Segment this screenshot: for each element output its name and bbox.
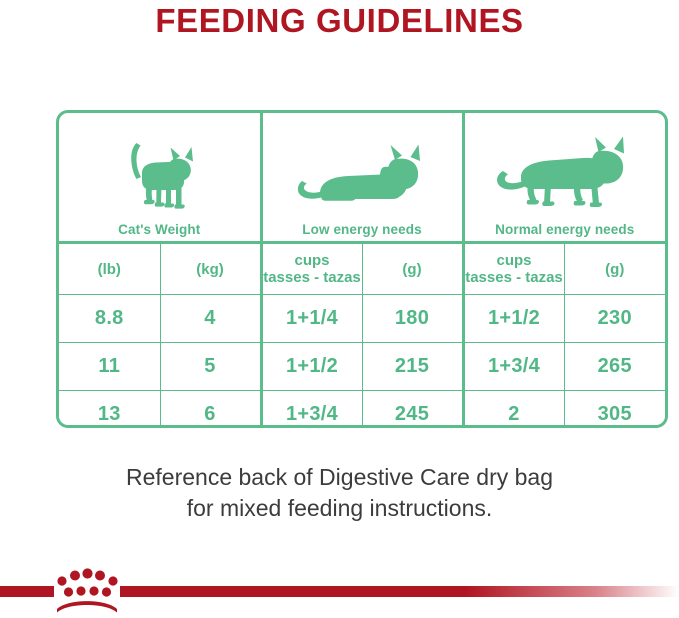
cell-low-grams: 180 xyxy=(362,295,463,343)
cell-normal-grams: 305 xyxy=(564,391,665,429)
header-label-low-energy: Low energy needs xyxy=(302,222,421,237)
unit-header-low-grams: (g) xyxy=(362,243,463,295)
cell-normal-cups: 2 xyxy=(463,391,564,429)
table-row: 11 5 1+1/2 215 1+3/4 265 xyxy=(59,343,665,391)
header-cell-low-energy: Low energy needs xyxy=(261,113,463,243)
brand-bar-left-segment xyxy=(0,586,54,597)
cell-normal-grams: 265 xyxy=(564,343,665,391)
cell-normal-cups: 1+3/4 xyxy=(463,343,564,391)
unit-header-normal-grams: (g) xyxy=(564,243,665,295)
unit-header-low-cups-line2: tasses - tazas xyxy=(263,269,362,286)
cell-weight-lb: 13 xyxy=(59,391,160,429)
cell-weight-lb: 8.8 xyxy=(59,295,160,343)
lying-cat-icon xyxy=(296,137,428,216)
header-cell-normal-energy: Normal energy needs xyxy=(463,113,665,243)
cell-weight-lb: 11 xyxy=(59,343,160,391)
footer-note: Reference back of Digestive Care dry bag… xyxy=(0,462,679,524)
brand-bar-right-segment xyxy=(120,586,679,597)
royal-canin-crown-logo xyxy=(48,567,126,613)
standing-cat-icon xyxy=(116,137,202,216)
unit-header-normal-cups: cups tasses - tazas xyxy=(463,243,564,295)
unit-header-normal-cups-line1: cups xyxy=(465,252,564,269)
cell-weight-kg: 5 xyxy=(160,343,261,391)
cell-weight-kg: 6 xyxy=(160,391,261,429)
cell-low-cups: 1+3/4 xyxy=(261,391,362,429)
cell-low-cups: 1+1/2 xyxy=(261,343,362,391)
table-row: 13 6 1+3/4 245 2 305 xyxy=(59,391,665,429)
cell-low-grams: 215 xyxy=(362,343,463,391)
table-header-unit-row: (lb) (kg) cups tasses - tazas (g) cups t… xyxy=(59,243,665,295)
cell-low-cups: 1+1/4 xyxy=(261,295,362,343)
cell-low-grams: 245 xyxy=(362,391,463,429)
cell-normal-cups: 1+1/2 xyxy=(463,295,564,343)
header-label-normal-energy: Normal energy needs xyxy=(495,222,634,237)
walking-cat-icon xyxy=(495,133,635,216)
unit-header-low-cups-line1: cups xyxy=(263,252,362,269)
feeding-guidelines-table: Cat's Weight xyxy=(56,110,668,428)
cell-weight-kg: 4 xyxy=(160,295,261,343)
unit-header-normal-cups-line2: tasses - tazas xyxy=(465,269,564,286)
header-cell-cats-weight: Cat's Weight xyxy=(59,113,261,243)
cell-normal-grams: 230 xyxy=(564,295,665,343)
unit-header-kg: (kg) xyxy=(160,243,261,295)
footer-note-line2: for mixed feeding instructions. xyxy=(0,493,679,524)
page-title: FEEDING GUIDELINES xyxy=(0,2,679,40)
unit-header-lb: (lb) xyxy=(59,243,160,295)
footer-note-line1: Reference back of Digestive Care dry bag xyxy=(0,462,679,493)
table-row: 8.8 4 1+1/4 180 1+1/2 230 xyxy=(59,295,665,343)
table-header-icon-row: Cat's Weight xyxy=(59,113,665,243)
header-label-cats-weight: Cat's Weight xyxy=(118,222,200,237)
unit-header-low-cups: cups tasses - tazas xyxy=(261,243,362,295)
